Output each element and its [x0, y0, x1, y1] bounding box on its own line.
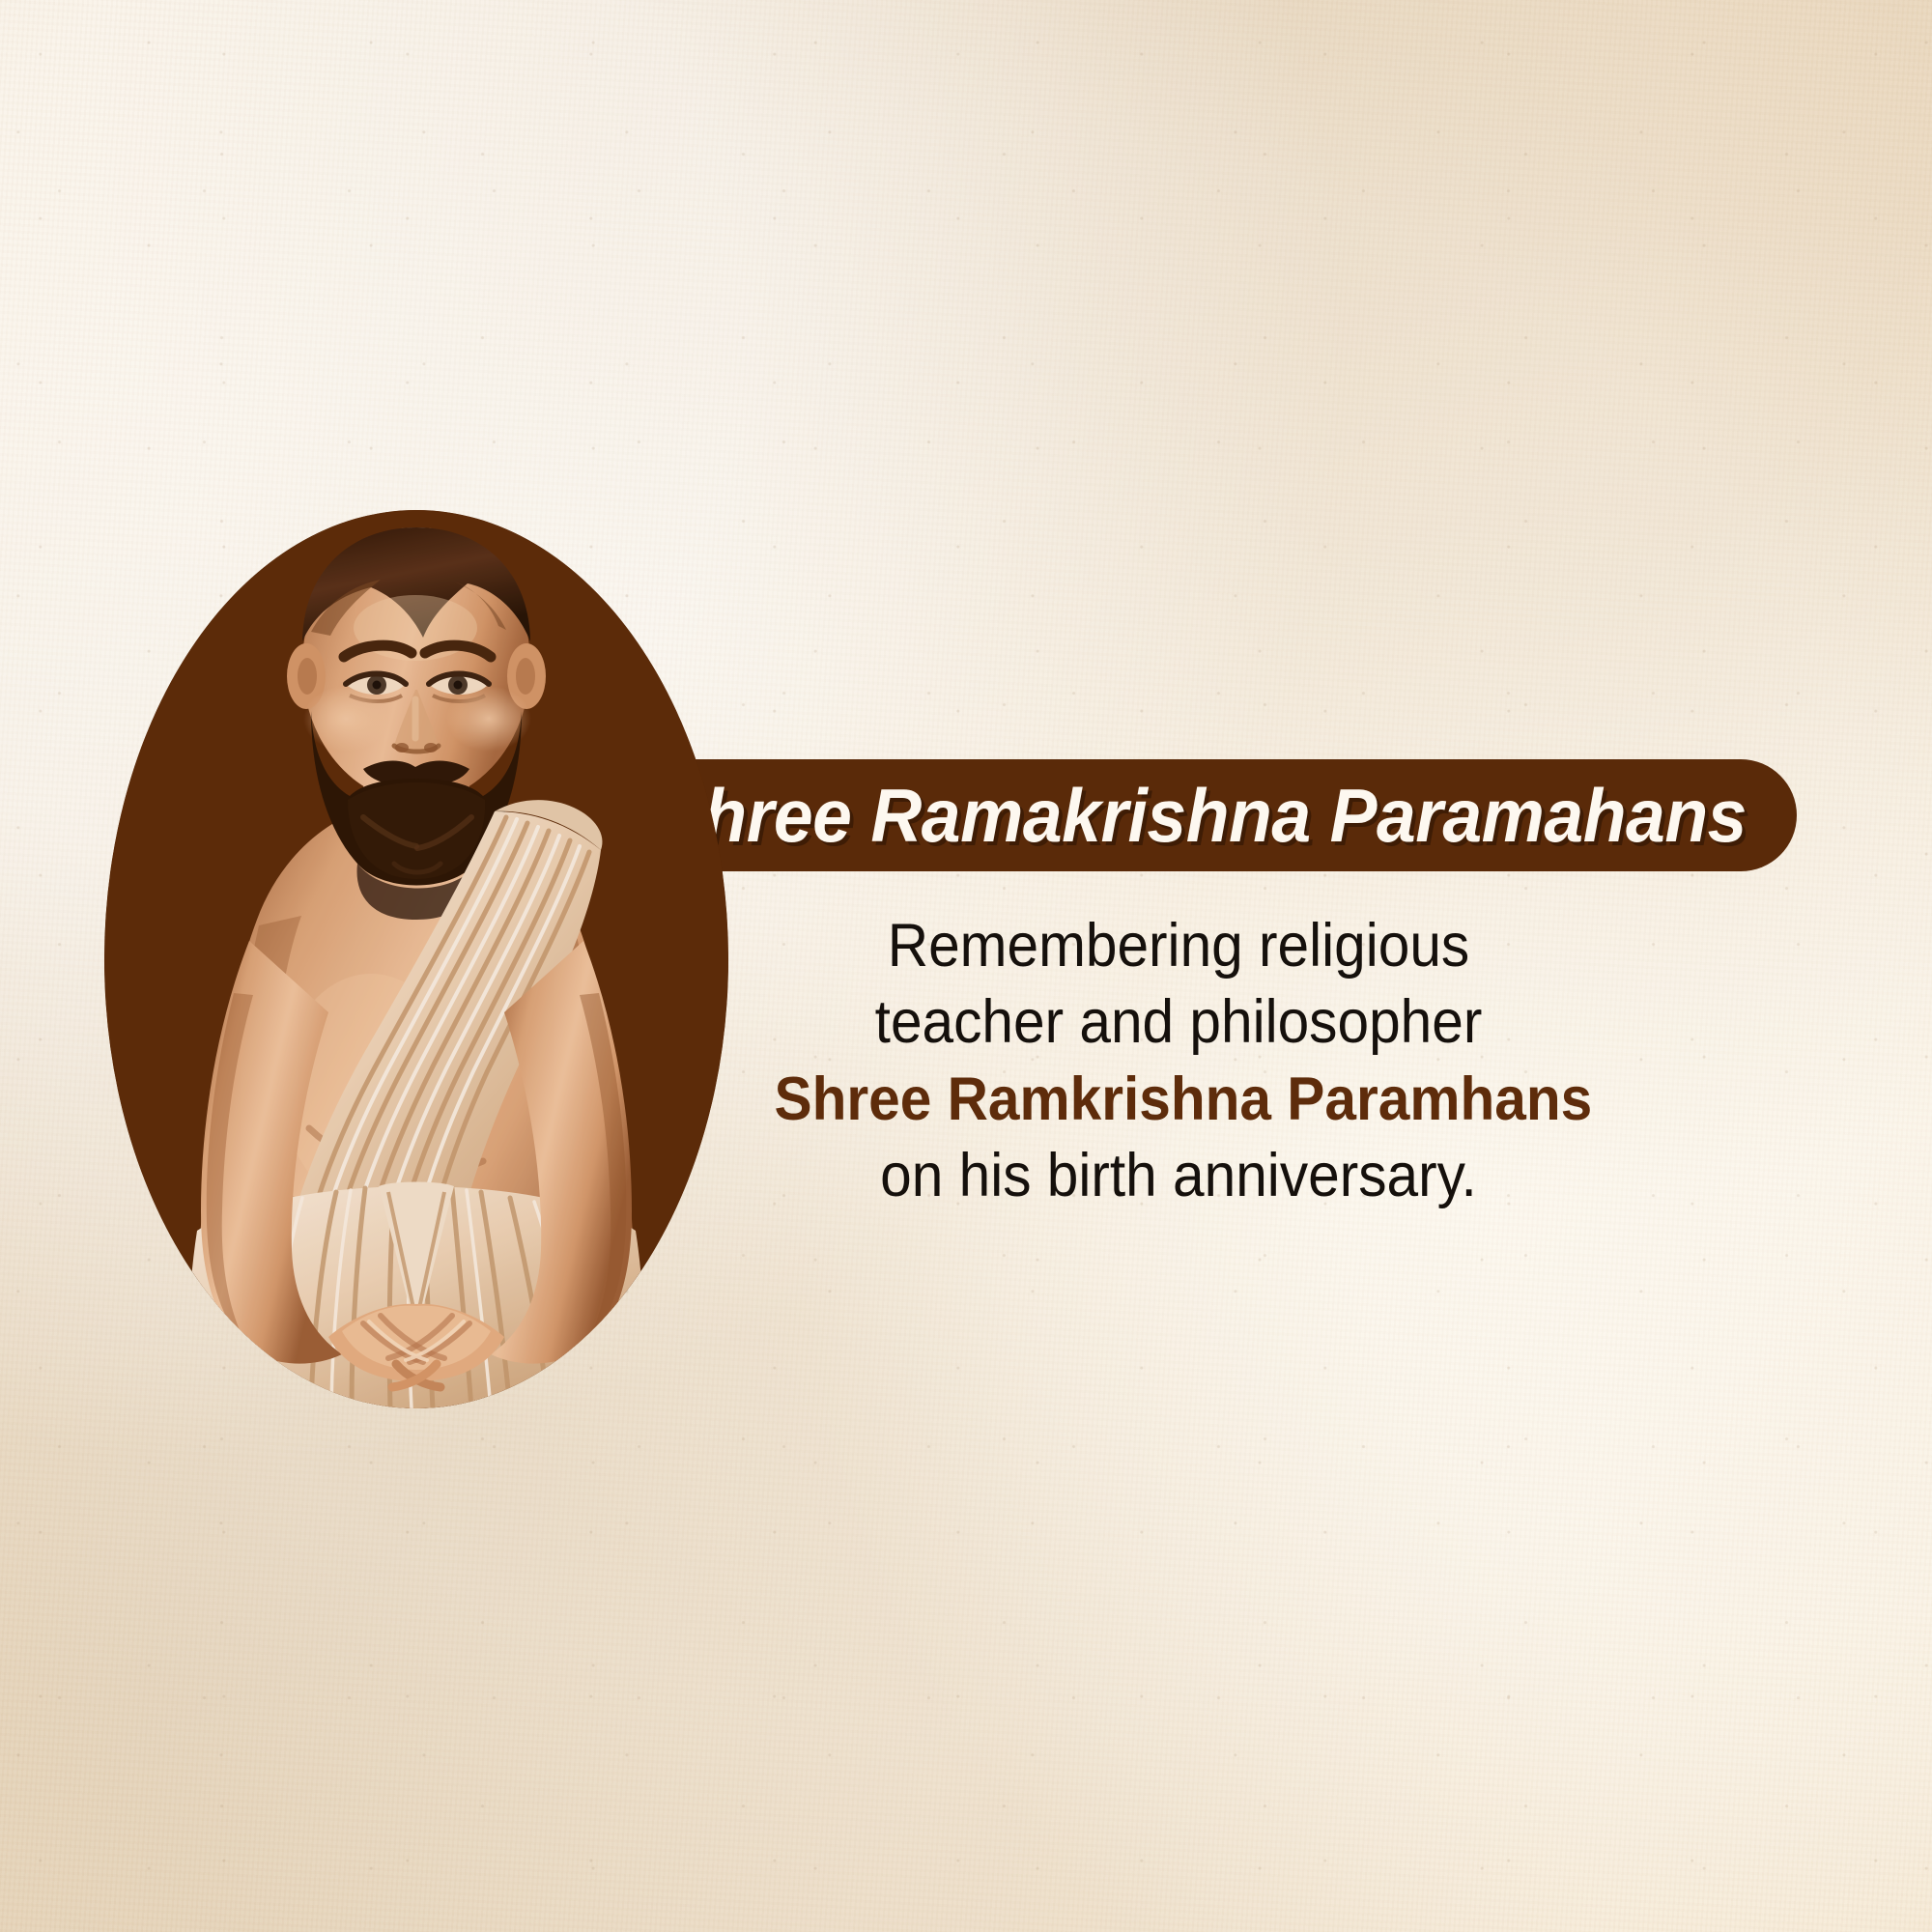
body-line-3-highlight: Shree Ramkrishna Paramhans — [775, 1062, 1583, 1138]
portrait-oval-frame — [104, 510, 728, 1408]
body-copy: Remembering religious teacher and philos… — [744, 908, 1613, 1215]
poster-canvas: Shree Ramakrishna Paramahans — [0, 0, 1932, 1932]
body-line-2: teacher and philosopher — [775, 984, 1583, 1061]
poster-title: Shree Ramakrishna Paramahans — [657, 772, 1747, 860]
body-line-4: on his birth anniversary. — [775, 1138, 1583, 1214]
body-line-1: Remembering religious — [775, 908, 1583, 984]
portrait-illustration — [104, 510, 728, 1408]
